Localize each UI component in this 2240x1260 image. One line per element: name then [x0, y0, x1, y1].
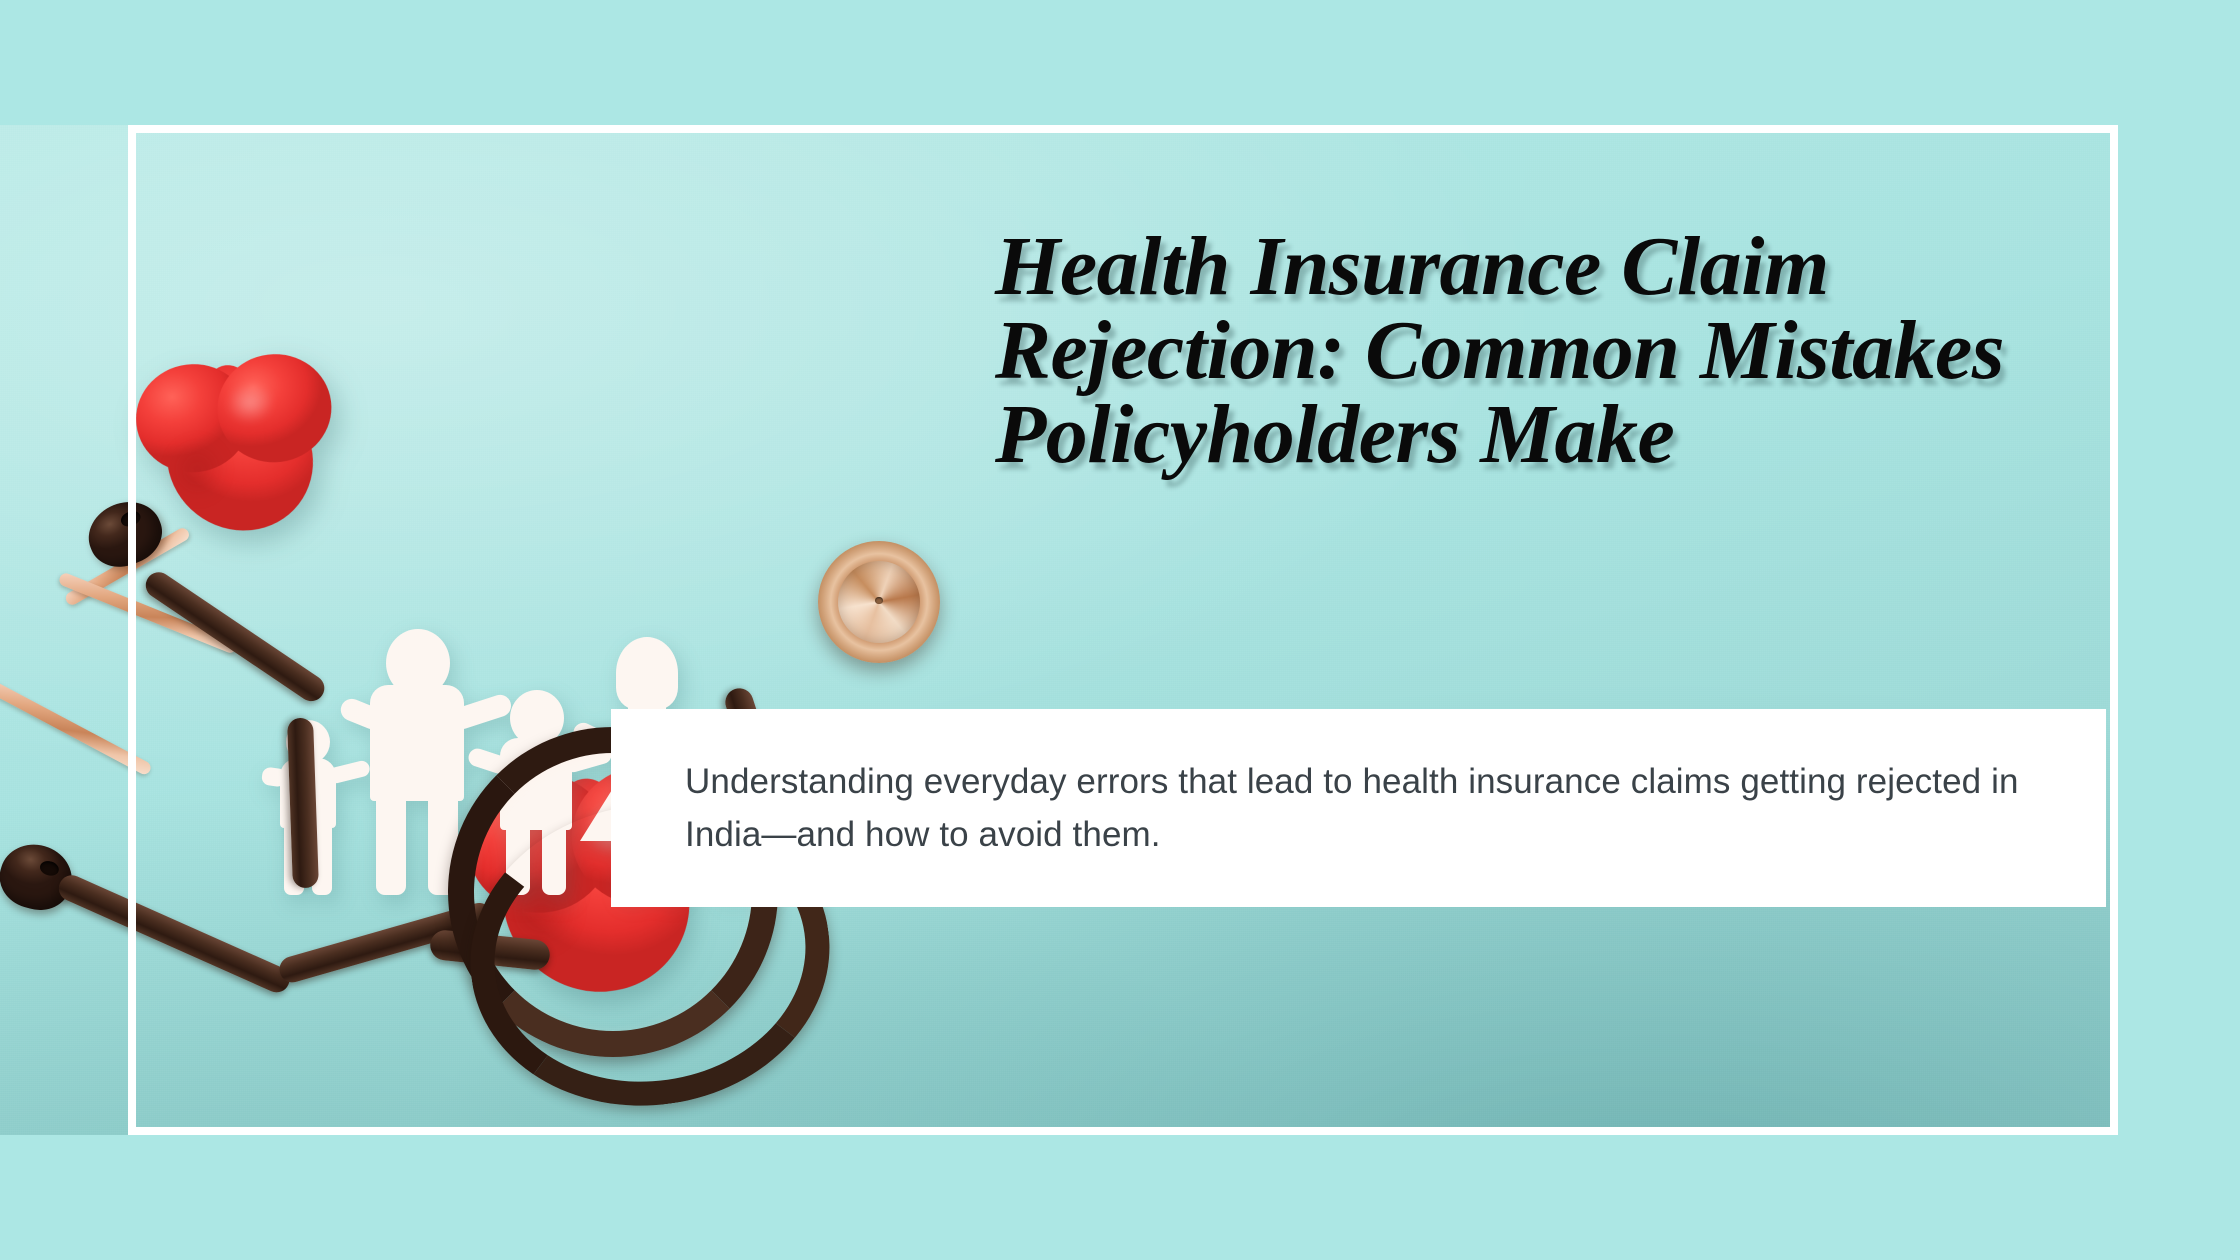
hero-banner: Health Insurance Claim Rejection: Common… — [0, 0, 2240, 1260]
stethoscope-arm-upper — [141, 567, 330, 706]
stethoscope-arm-lower — [55, 871, 294, 996]
stethoscope-eartube-lower — [0, 676, 153, 777]
subtitle-card: Understanding everyday errors that lead … — [611, 709, 2106, 907]
subtitle-text: Understanding everyday errors that lead … — [611, 755, 2106, 861]
stethoscope-arm-upper-2 — [287, 718, 319, 889]
page-title: Health Insurance Claim Rejection: Common… — [995, 225, 2115, 477]
stethoscope-chestpiece-icon — [818, 541, 940, 663]
stethoscope-eartip-upper — [79, 491, 171, 576]
